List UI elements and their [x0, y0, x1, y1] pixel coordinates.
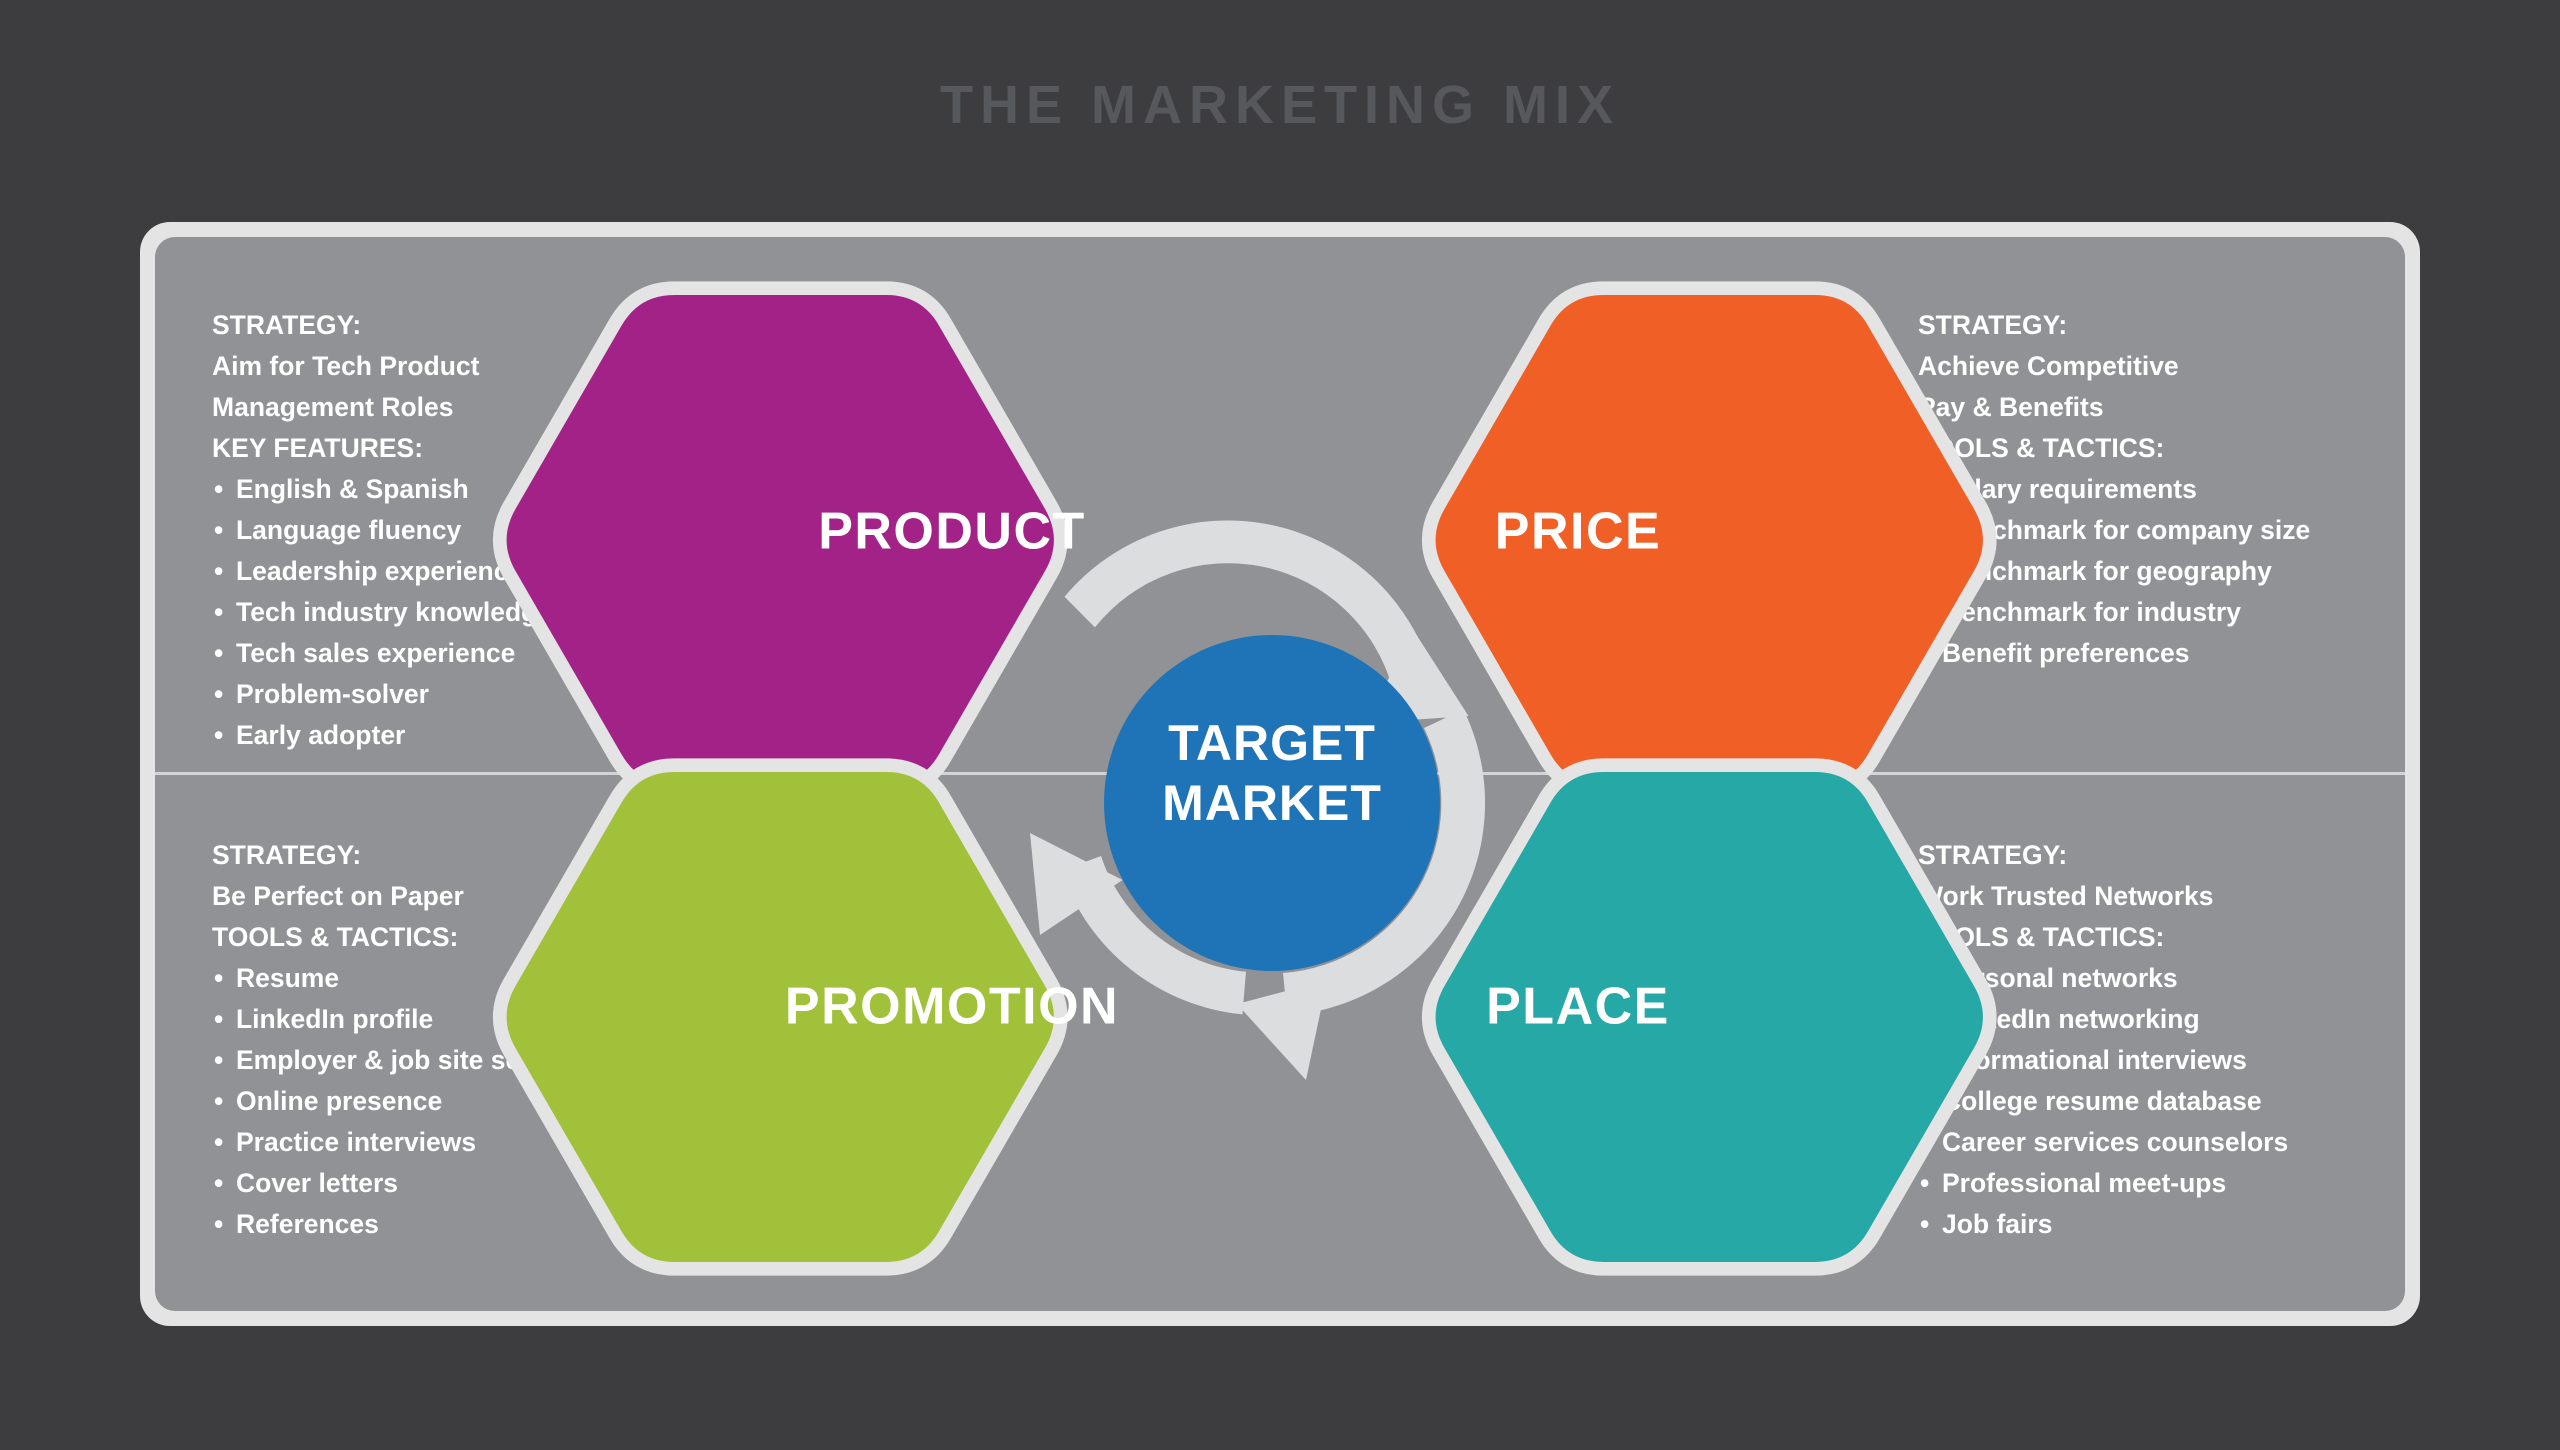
list-item: Benchmark for industry — [1918, 592, 2478, 633]
list-item: LinkedIn networking — [1918, 999, 2478, 1040]
list-item: Leadership experience — [212, 551, 772, 592]
list-item: Cover letters — [212, 1163, 772, 1204]
feature-list: English & Spanish Language fluency Leade… — [212, 469, 772, 756]
list-header: TOOLS & TACTICS: — [212, 917, 772, 958]
strategy-line: Work Trusted Networks — [1918, 876, 2478, 917]
list-item: Online presence — [212, 1081, 772, 1122]
strategy-line: Aim for Tech Product — [212, 346, 772, 387]
strategy-line: Be Perfect on Paper — [212, 876, 772, 917]
page-title: THE MARKETING MIX — [0, 74, 2560, 136]
quadrant-text-price: STRATEGY: Achieve Competitive Pay & Bene… — [1918, 305, 2478, 674]
list-item: Employer & job site search — [212, 1040, 772, 1081]
list-item: Job fairs — [1918, 1204, 2478, 1245]
list-header: KEY FEATURES: — [212, 428, 772, 469]
list-item: Informational interviews — [1918, 1040, 2478, 1081]
horizontal-divider — [155, 772, 2405, 775]
strategy-header: STRATEGY: — [1918, 305, 2478, 346]
list-item: Salary requirements — [1918, 469, 2478, 510]
list-item: Early adopter — [212, 715, 772, 756]
strategy-line: Pay & Benefits — [1918, 387, 2478, 428]
list-item: Professional meet-ups — [1918, 1163, 2478, 1204]
list-item: English & Spanish — [212, 469, 772, 510]
strategy-line: Management Roles — [212, 387, 772, 428]
quadrant-text-promotion: STRATEGY: Be Perfect on Paper TOOLS & TA… — [212, 835, 772, 1245]
strategy-header: STRATEGY: — [212, 305, 772, 346]
marketing-mix-infographic: THE MARKETING MIX STRATEGY: Aim for Tech… — [0, 0, 2560, 1450]
list-item: Language fluency — [212, 510, 772, 551]
list-item: Practice interviews — [212, 1122, 772, 1163]
quadrant-text-place: STRATEGY: Work Trusted Networks TOOLS & … — [1918, 835, 2478, 1245]
list-item: Career services counselors — [1918, 1122, 2478, 1163]
tactics-list: Salary requirements Benchmark for compan… — [1918, 469, 2478, 674]
list-item: Benchmark for geography — [1918, 551, 2478, 592]
list-item: College resume database — [1918, 1081, 2478, 1122]
list-header: TOOLS & TACTICS: — [1918, 917, 2478, 958]
strategy-header: STRATEGY: — [1918, 835, 2478, 876]
list-header: TOOLS & TACTICS: — [1918, 428, 2478, 469]
strategy-line: Achieve Competitive — [1918, 346, 2478, 387]
tactics-list: Resume LinkedIn profile Employer & job s… — [212, 958, 772, 1245]
list-item: Tech sales experience — [212, 633, 772, 674]
list-item: Tech industry knowledge — [212, 592, 772, 633]
strategy-header: STRATEGY: — [212, 835, 772, 876]
list-item: Resume — [212, 958, 772, 999]
list-item: Benefit preferences — [1918, 633, 2478, 674]
list-item: References — [212, 1204, 772, 1245]
tactics-list: Personal networks LinkedIn networking In… — [1918, 958, 2478, 1245]
quadrant-text-product: STRATEGY: Aim for Tech Product Managemen… — [212, 305, 772, 756]
list-item: Benchmark for company size — [1918, 510, 2478, 551]
list-item: Problem-solver — [212, 674, 772, 715]
list-item: Personal networks — [1918, 958, 2478, 999]
list-item: LinkedIn profile — [212, 999, 772, 1040]
